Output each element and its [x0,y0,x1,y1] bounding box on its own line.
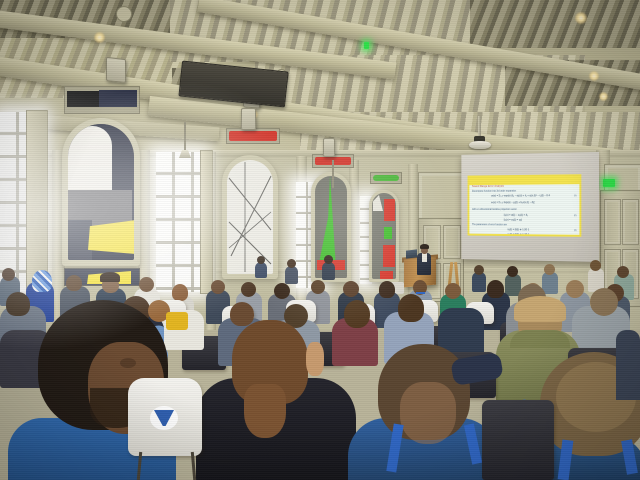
audience-head [544,264,555,275]
window-shutter [26,110,48,294]
audience-head [487,280,504,298]
slide-equation: uₙ(x) = Σᵢ₌₁ⁿ aᵢφᵢ(x)·(ξ₁ − αⱼ(x)) + λⱼ … [491,194,550,197]
slide-eq-number: (2) [574,215,577,217]
audience-hair [514,296,566,322]
slide-eq-number: (1) [574,195,577,197]
slide-equation: ξ₂(x) = α₁(ξ) = σⱼξ [504,219,522,222]
audience-head [66,275,82,291]
art-shape-white [373,195,383,211]
audience-head [379,281,395,298]
chair-back[interactable] [128,378,202,456]
audience-head [566,280,584,298]
foreground-woman-ponytail [244,384,286,438]
art-panel-2-frame [222,155,278,279]
audience-head [343,281,359,297]
audience-head [139,277,154,292]
ceiling-spotlight [575,12,587,24]
audience-hair [398,294,424,322]
chair-back[interactable] [482,400,554,480]
presenter-hair [420,244,429,249]
art-shape-white-arch [68,126,112,198]
art-bar-red [229,131,277,141]
projection-screen: Sound Range Error Analysis Decompose fun… [461,152,599,262]
audience-head [445,283,461,299]
audience-head [324,255,333,264]
art-panel-2 [227,160,273,274]
yellow-bag [166,312,188,330]
audience-head [590,288,618,316]
audience-head [507,266,518,277]
foreground-man-ear [120,358,136,368]
slide-line: Decompose function into 3rd order expans… [472,190,516,193]
art-shape-navy [68,220,92,260]
audience-head [211,280,225,294]
art-panel-4 [372,193,396,279]
wall-recess [370,172,402,184]
audience-head [172,284,188,301]
ceiling-speaker [106,57,126,83]
foreground-woman-face-edge [306,342,324,376]
ceiling-spotlight [94,32,105,43]
slide-header-bar [469,176,579,185]
audience-hair [6,292,30,316]
conference-hall-photo: Sound Range Error Analysis Decompose fun… [0,0,640,480]
audience-person [472,272,486,292]
art-bar-black [67,91,101,107]
slide-equation: vₙ(x) = Σᵢ₌₁ⁿ bᵢψᵢ(x) − μⱼ(ξ) + b₀σ(x,ξ)… [491,201,535,204]
art-linework-icon [227,160,273,274]
exit-sign-icon [603,179,615,187]
art-shape-red [380,271,393,279]
slide-line: with a 1-dimensional iterative projectio… [472,208,517,211]
slide-equation: ξ₁(x) = α(ξ) − α₂(ξ) = δ₁ [504,214,528,217]
audience-head [311,280,325,294]
pendant-cable [332,160,334,188]
presentation-slide: Sound Range Error Analysis Decompose fun… [468,174,582,237]
lanyard [416,292,425,294]
slide-line: The parameters of error function are [472,223,507,226]
ceiling-projector [469,141,491,149]
audience-head [590,260,601,271]
audience-head [287,259,296,268]
art-panel-1 [68,124,134,260]
slide-eq-number: (3) [574,230,577,232]
foreground-man-neck [400,382,456,444]
presenter-shirt [422,253,427,262]
window-shutter [200,150,213,294]
headscarf [32,270,52,292]
jacket-hood [510,330,570,348]
audience-head [257,256,265,264]
audience-head [617,266,629,278]
pendant-cable [184,122,186,152]
ceiling-spotlight [589,71,599,81]
slide-title: Sound Range Error Analysis [472,185,504,188]
audience-person [616,330,640,400]
tall-window [156,152,204,292]
ceiling-fixture [116,6,132,22]
art-shape-red [384,199,395,221]
wall-recess [64,86,140,114]
art-panel-4-frame [369,190,399,282]
presenter-laptop [406,249,417,258]
wall-speaker [241,108,256,130]
audience-person [285,266,298,284]
audience-hair [100,272,120,282]
ceiling-spotlight [599,92,608,101]
audience-hair [344,300,370,328]
art-shape-green [384,227,392,239]
audience-person [255,262,267,278]
audience-person [322,262,335,280]
art-panel-1-frame [62,118,140,266]
audience-head [230,302,254,326]
ceiling-coffer [470,0,640,48]
slide-equation: λ₁(ξ) = β(ξ) ⊕ 1.20·1 [507,228,529,231]
slide-equation: λ₂(ξ) = β(ξ) ⊕ 1.20·1 [507,233,529,236]
wall-recess [226,128,280,144]
audience-head [2,268,15,281]
art-bar-navy [99,90,137,107]
green-laser-dot-icon [364,42,369,49]
window-panes [156,152,204,292]
art-bar-green [373,175,399,181]
wall-speaker [323,138,335,157]
audience-head [474,265,484,275]
art-shape-red [383,245,395,267]
audience-head [274,283,290,299]
audience-head [241,282,256,297]
